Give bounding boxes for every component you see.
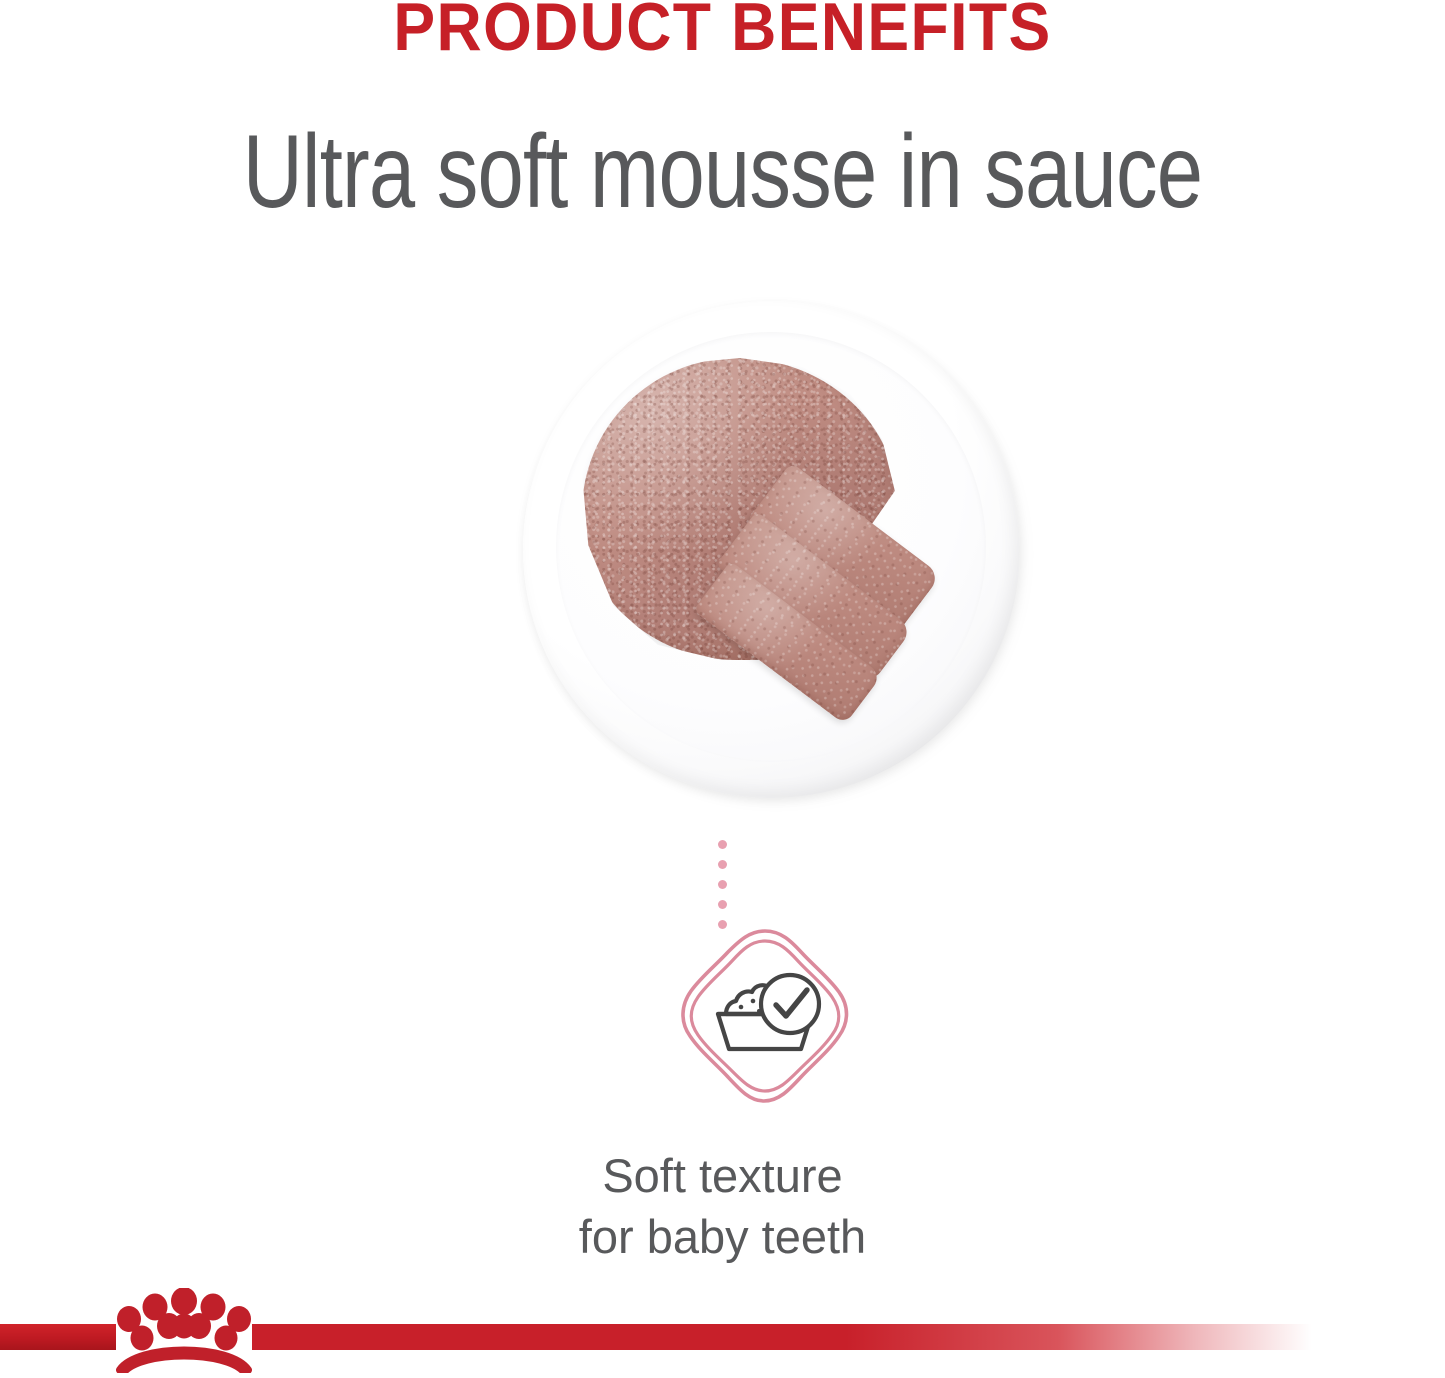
connector-dot: [718, 880, 727, 889]
product-image-plate-of-mousse: [518, 296, 1026, 804]
connector-dot: [718, 860, 727, 869]
footer-bar-left-segment: [0, 1324, 116, 1350]
footer-bar-right-segment: [252, 1324, 1312, 1350]
benefit-caption: Soft texture for baby teeth: [0, 1145, 1445, 1267]
crown-logo-icon: [104, 1288, 264, 1373]
benefit-caption-line-2: for baby teeth: [0, 1206, 1445, 1267]
connector-dot: [718, 840, 727, 849]
benefit-badge: [671, 922, 859, 1110]
page-title: PRODUCT BENEFITS: [58, 0, 1387, 63]
page-subtitle: Ultra soft mousse in sauce: [145, 118, 1301, 227]
mousse-group: [582, 358, 964, 748]
check-circle: [761, 975, 819, 1033]
dotted-connector-line: [0, 840, 1445, 929]
food-bowl-check-icon: [671, 922, 859, 1110]
benefit-caption-line-1: Soft texture: [0, 1145, 1445, 1206]
royal-canin-crown-logo: [104, 1288, 264, 1373]
connector-dot: [718, 900, 727, 909]
